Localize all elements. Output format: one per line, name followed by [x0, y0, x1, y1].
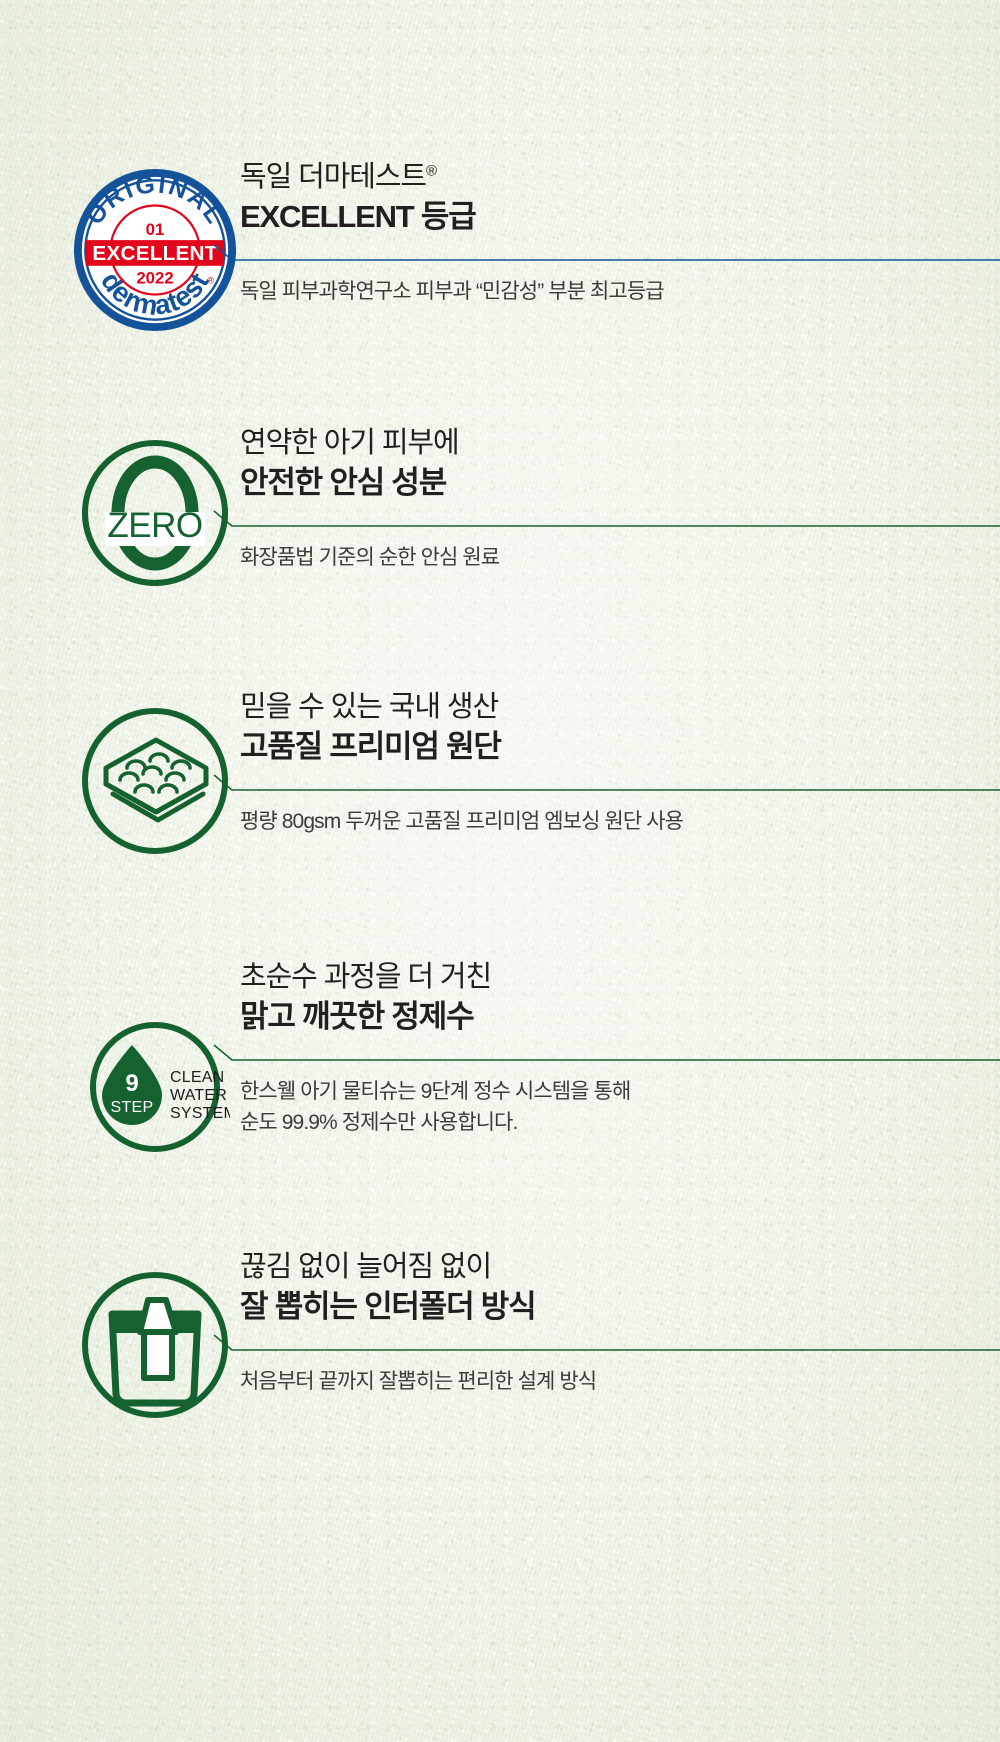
zero-circle-icon: ZERO — [70, 424, 240, 588]
system-line-2: WATER — [170, 1087, 227, 1104]
feature-description: 평량 80gsm 두꺼운 고품질 프리미엄 엠보싱 원단 사용 — [240, 806, 950, 837]
divider-dermatest — [240, 245, 950, 267]
feature-title-line2: EXCELLENT 등급 — [240, 197, 950, 237]
feature-row-water: 9 STEP CLEAN WATER SYSTEM 초순수 과정을 더 거친 맑… — [70, 958, 950, 1162]
dermatest-text-block: 독일 더마테스트® EXCELLENT 등급 독일 피부과학연구소 피부과 “민… — [240, 158, 950, 307]
water-text-block: 초순수 과정을 더 거친 맑고 깨끗한 정제수 한스웰 아기 물티슈는 9단계 … — [240, 958, 950, 1138]
badge-year: 2022 — [136, 269, 173, 288]
feature-title-line2: 고품질 프리미엄 원단 — [240, 727, 950, 767]
feature-description: 독일 피부과학연구소 피부과 “민감성” 부분 최고등급 — [240, 276, 950, 307]
feature-description: 한스웰 아기 물티슈는 9단계 정수 시스템을 통해 순도 99.9% 정제수만… — [240, 1076, 950, 1138]
zero-text-block: 연약한 아기 피부에 안전한 안심 성분 화장품법 기준의 순한 안심 원료 — [240, 424, 950, 573]
feature-list-page: ORIGINAL dermatest 01 EXCELLENT 2022 ® 독… — [0, 0, 1000, 1742]
interfold-text-block: 끊김 없이 늘어짐 없이 잘 뽑히는 인터폴더 방식 처음부터 끝까지 잘뽑히는… — [240, 1248, 950, 1397]
system-line-3: SYSTEM — [170, 1105, 230, 1122]
feature-title-line2: 맑고 깨끗한 정제수 — [240, 997, 950, 1037]
registered-mark: ® — [426, 162, 437, 179]
feature-title-line2: 안전한 안심 성분 — [240, 463, 950, 503]
feature-description: 처음부터 끝까지 잘뽑히는 편리한 설계 방식 — [240, 1366, 950, 1397]
system-line-1: CLEAN — [170, 1069, 224, 1086]
feature-description: 화장품법 기준의 순한 안심 원료 — [240, 542, 950, 573]
badge-banner-text: EXCELLENT — [92, 242, 217, 265]
feature-title-line1: 초순수 과정을 더 거친 — [240, 958, 950, 996]
divider-interfold — [240, 1335, 950, 1357]
feature-title-line1: 믿을 수 있는 국내 생산 — [240, 688, 950, 726]
feature-row-dermatest: ORIGINAL dermatest 01 EXCELLENT 2022 ® 독… — [70, 158, 950, 336]
feature-title-line1: 연약한 아기 피부에 — [240, 424, 950, 462]
feature-row-fabric: 믿을 수 있는 국내 생산 고품질 프리미엄 원단 평량 80gsm 두꺼운 고… — [70, 688, 950, 856]
divider-fabric — [240, 775, 950, 797]
badge-number: 01 — [146, 220, 165, 239]
embossed-fabric-icon — [70, 688, 240, 856]
step-label: STEP — [111, 1099, 154, 1116]
feature-row-zero: ZERO 연약한 아기 피부에 안전한 안심 성분 화장품법 기준의 순한 안심… — [70, 424, 950, 588]
fabric-text-block: 믿을 수 있는 국내 생산 고품질 프리미엄 원단 평량 80gsm 두꺼운 고… — [240, 688, 950, 837]
badge-registered-mark: ® — [207, 276, 214, 286]
feature-title-line2: 잘 뽑히는 인터폴더 방식 — [240, 1287, 950, 1327]
divider-water — [240, 1045, 950, 1067]
divider-zero — [240, 511, 950, 533]
zero-label: ZERO — [107, 506, 202, 545]
feature-title-line1: 끊김 없이 늘어짐 없이 — [240, 1248, 950, 1286]
feature-title-line1: 독일 더마테스트® — [240, 158, 950, 196]
feature-row-interfold: 끊김 없이 늘어짐 없이 잘 뽑히는 인터폴더 방식 처음부터 끝까지 잘뽑히는… — [70, 1248, 950, 1420]
step-number: 9 — [125, 1070, 138, 1097]
